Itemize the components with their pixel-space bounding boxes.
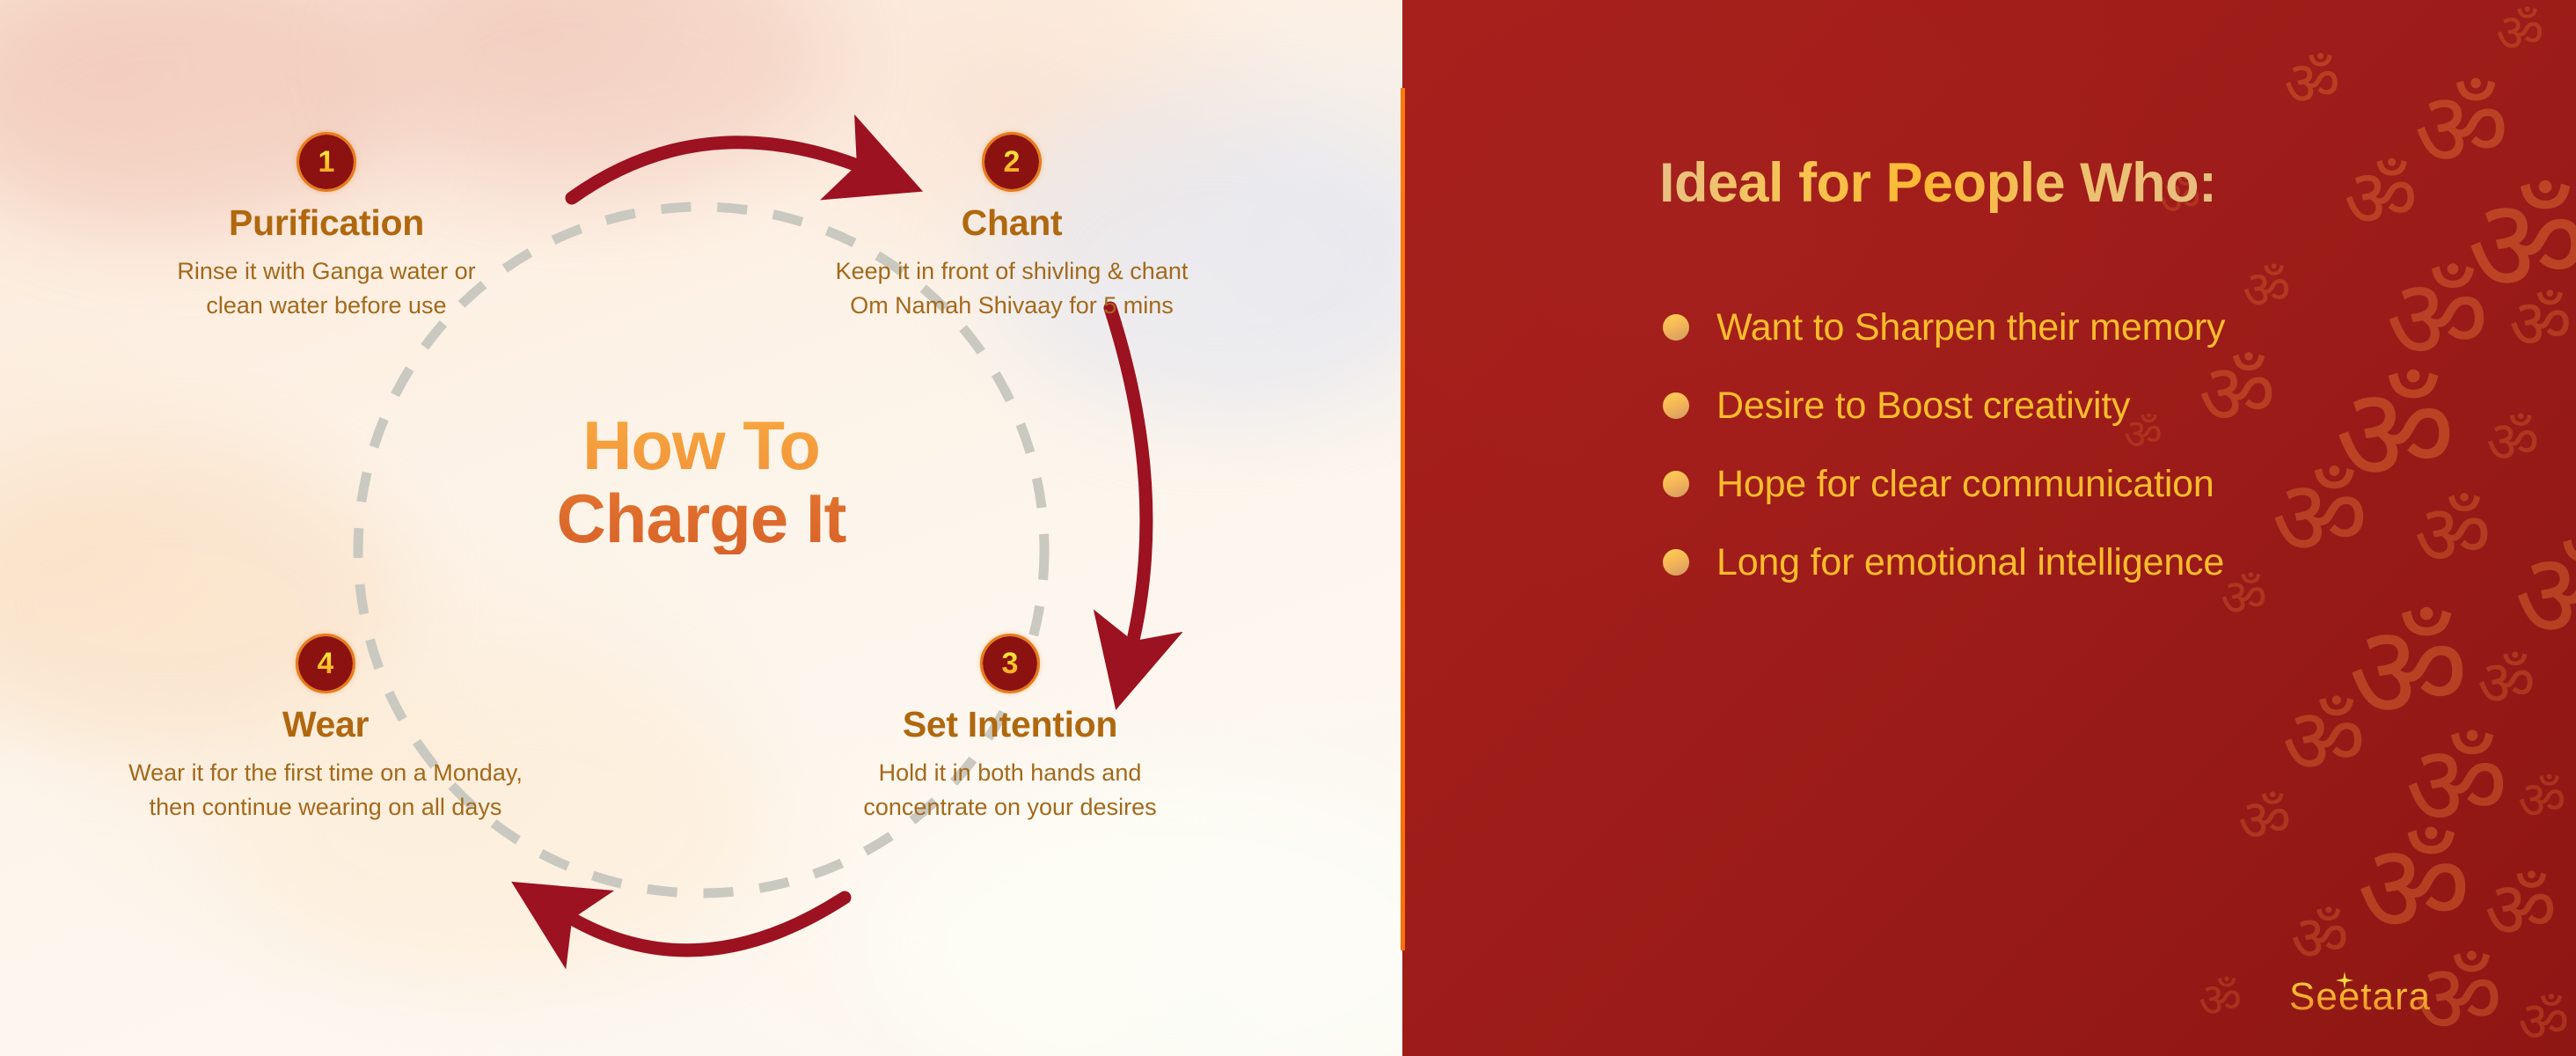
step-4-description: Wear it for the first time on a Monday, … bbox=[106, 756, 545, 825]
step-4-title: Wear bbox=[106, 704, 545, 745]
infographic-canvas: 1 Purification Rinse it with Ganga water… bbox=[0, 0, 2576, 1056]
step-3-title: Set Intention bbox=[772, 704, 1248, 745]
om-symbol-icon: ॐ bbox=[2414, 493, 2492, 577]
step-3-desc-line-1: Hold it in both hands and bbox=[772, 756, 1248, 790]
step-2-desc-line-2: Om Namah Shivaay for 5 mins bbox=[765, 289, 1258, 323]
bullet-label: Hope for clear communication bbox=[1716, 463, 2214, 506]
om-symbol-icon: ॐ bbox=[2414, 77, 2509, 181]
step-1-desc-line-1: Rinse it with Ganga water or bbox=[106, 254, 546, 289]
brand-logo: Seetara bbox=[2289, 975, 2431, 1019]
right-panel-heading: Ideal for People Who: bbox=[1659, 151, 2217, 215]
list-item: Desire to Boost creativity bbox=[1663, 386, 2225, 425]
step-2-number-badge: 2 bbox=[982, 132, 1042, 192]
step-3-set-intention: 3 Set Intention Hold it in both hands an… bbox=[772, 634, 1248, 825]
bullet-label: Desire to Boost creativity bbox=[1716, 385, 2130, 428]
om-symbol-icon: ॐ bbox=[2284, 53, 2340, 114]
om-symbol-icon: ॐ bbox=[2357, 827, 2471, 952]
how-to-charge-panel: 1 Purification Rinse it with Ganga water… bbox=[0, 0, 1402, 1056]
step-1-number-badge: 1 bbox=[296, 132, 356, 192]
om-symbol-icon: ॐ bbox=[2272, 466, 2367, 572]
step-1-description: Rinse it with Ganga water or clean water… bbox=[106, 254, 546, 323]
step-1-title: Purification bbox=[106, 202, 546, 244]
om-symbol-icon: ॐ bbox=[2238, 792, 2291, 850]
center-title-line-2: Charge It bbox=[349, 482, 1053, 555]
step-4-desc-line-2: then continue wearing on all days bbox=[106, 790, 545, 825]
bullet-label: Want to Sharpen their memory bbox=[1716, 306, 2225, 349]
om-symbol-icon: ॐ bbox=[2291, 906, 2349, 970]
step-3-desc-line-2: concentrate on your desires bbox=[772, 790, 1248, 825]
step-2-chant: 2 Chant Keep it in front of shivling & c… bbox=[765, 132, 1258, 323]
om-symbol-icon: ॐ bbox=[2344, 158, 2418, 239]
om-symbol-icon: ॐ bbox=[2335, 370, 2455, 502]
om-symbol-icon: ॐ bbox=[2477, 651, 2536, 715]
step-3-number-badge: 3 bbox=[980, 634, 1040, 693]
om-symbol-icon: ॐ bbox=[2467, 180, 2576, 312]
step-4-wear: 4 Wear Wear it for the first time on a M… bbox=[106, 634, 545, 825]
om-symbol-icon: ॐ bbox=[2486, 414, 2539, 472]
om-symbol-icon: ॐ bbox=[2243, 264, 2291, 317]
panel-divider-line bbox=[1401, 88, 1405, 950]
om-symbol-icon: ॐ bbox=[2348, 607, 2469, 739]
om-symbol-icon: ॐ bbox=[2518, 774, 2566, 827]
step-2-description: Keep it in front of shivling & chant Om … bbox=[765, 254, 1258, 323]
step-2-number: 2 bbox=[1004, 147, 1021, 177]
om-symbol-icon: ॐ bbox=[2485, 871, 2557, 950]
step-4-desc-line-1: Wear it for the first time on a Monday, bbox=[106, 756, 545, 790]
bullet-label: Long for emotional intelligence bbox=[1716, 541, 2224, 584]
om-symbol-icon: ॐ bbox=[2221, 572, 2267, 623]
step-2-desc-line-1: Keep it in front of shivling & chant bbox=[765, 254, 1258, 289]
step-4-number: 4 bbox=[318, 649, 334, 678]
center-title: How To Charge It bbox=[349, 409, 1053, 554]
arrow-step3-to-step4 bbox=[563, 898, 845, 950]
om-symbol-icon: ॐ bbox=[2496, 7, 2544, 60]
benefits-list: Want to Sharpen their memory Desire to B… bbox=[1663, 308, 2225, 621]
om-symbol-icon: ॐ bbox=[2199, 977, 2242, 1024]
om-symbol-icon: ॐ bbox=[2282, 695, 2366, 787]
step-3-description: Hold it in both hands and concentrate on… bbox=[772, 756, 1248, 825]
step-1-desc-line-2: clean water before use bbox=[106, 289, 546, 323]
center-title-line-1: How To bbox=[349, 409, 1053, 482]
arrow-step2-to-step3 bbox=[1110, 308, 1146, 651]
step-4-number-badge: 4 bbox=[296, 634, 355, 693]
bullet-dot-icon bbox=[1663, 549, 1689, 576]
list-item: Hope for clear communication bbox=[1663, 465, 2225, 503]
bullet-dot-icon bbox=[1663, 314, 1689, 341]
om-symbol-icon: ॐ bbox=[2514, 537, 2576, 656]
list-item: Long for emotional intelligence bbox=[1663, 543, 2225, 582]
om-symbol-icon: ॐ bbox=[2518, 994, 2569, 1051]
step-1-number: 1 bbox=[318, 147, 335, 177]
list-item: Want to Sharpen their memory bbox=[1663, 308, 2225, 347]
step-2-title: Chant bbox=[765, 202, 1258, 244]
bullet-dot-icon bbox=[1663, 471, 1689, 497]
step-1-purification: 1 Purification Rinse it with Ganga water… bbox=[106, 132, 546, 323]
step-3-number: 3 bbox=[1002, 649, 1019, 678]
bullet-dot-icon bbox=[1663, 392, 1689, 419]
om-symbol-icon: ॐ bbox=[2509, 290, 2572, 359]
om-symbol-icon: ॐ bbox=[2405, 730, 2508, 843]
om-symbol-icon: ॐ bbox=[2386, 264, 2489, 377]
